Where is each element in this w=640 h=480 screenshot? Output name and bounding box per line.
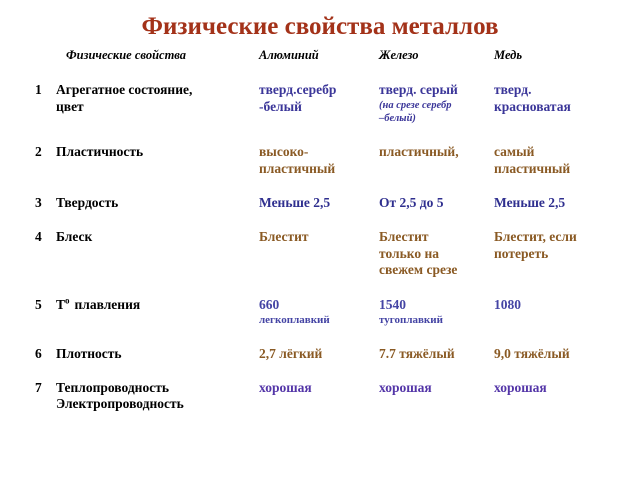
cell-iron: хорошая [379, 380, 494, 413]
cell-line2: пластичный [259, 161, 371, 177]
cell-line1: Блестит [259, 229, 371, 245]
row-property: Твердость [56, 195, 259, 229]
cell-line1: 7.7 тяжёлый [379, 346, 486, 362]
table-header-row: Физические свойства Алюминий Железо Медь [26, 48, 626, 82]
header-copper: Медь [494, 48, 626, 82]
cell-iron: пластичный, [379, 144, 494, 195]
cell-line1: Меньше 2,5 [494, 195, 618, 211]
row-property-line2: цвет [56, 99, 251, 115]
cell-line2: красноватая [494, 99, 618, 115]
cell-line1: 1540 [379, 297, 486, 313]
cell-line1: тверд.серебр [259, 82, 371, 98]
properties-table: Физические свойства Алюминий Железо Медь… [26, 48, 626, 413]
cell-line1: пластичный, [379, 144, 486, 160]
cell-line1: 1080 [494, 297, 618, 313]
cell-line1: 9,0 тяжёлый [494, 346, 618, 362]
cell-aluminium: Меньше 2,5 [259, 195, 379, 229]
page-title: Физические свойства металлов [0, 14, 640, 40]
cell-line3: свежем срезе [379, 262, 486, 278]
row-number: 7 [26, 380, 56, 413]
cell-subtext-line1: (на срезе серебр [379, 100, 486, 113]
row-property: Агрегатное состояние, цвет [56, 82, 259, 144]
cell-line1: От 2,5 до 5 [379, 195, 486, 211]
row-property-line1: Твердость [56, 195, 251, 211]
cell-line1: тверд. серый [379, 82, 486, 98]
cell-line2: потереть [494, 246, 618, 262]
row-number: 6 [26, 346, 56, 380]
row-property-line1: Пластичность [56, 144, 251, 160]
cell-aluminium: 2,7 лёгкий [259, 346, 379, 380]
table-row: 1 Агрегатное состояние, цвет тверд.сереб… [26, 82, 626, 144]
row-property: Блеск [56, 229, 259, 296]
cell-aluminium: Блестит [259, 229, 379, 296]
cell-subtext-line2: –белый) [379, 113, 486, 126]
cell-iron: 1540 тугоплавкий [379, 297, 494, 346]
cell-aluminium: 660 легкоплавкий [259, 297, 379, 346]
cell-aluminium: высоко- пластичный [259, 144, 379, 195]
row-number: 3 [26, 195, 56, 229]
row-number: 5 [26, 297, 56, 346]
cell-copper: 1080 [494, 297, 626, 346]
row-property-line2: Электропроводность [56, 396, 251, 412]
cell-iron: 7.7 тяжёлый [379, 346, 494, 380]
cell-line1: Блестит [379, 229, 486, 245]
cell-copper: хорошая [494, 380, 626, 413]
cell-line1: 2,7 лёгкий [259, 346, 371, 362]
header-number [26, 48, 56, 82]
table-row: 4 Блеск Блестит Блестит только на свежем… [26, 229, 626, 296]
row-number: 1 [26, 82, 56, 144]
table-row: 5 Топлавления 660 легкоплавкий 1540 туго… [26, 297, 626, 346]
cell-copper: Блестит, если потереть [494, 229, 626, 296]
row-property-line1: Плотность [56, 346, 251, 362]
cell-copper: 9,0 тяжёлый [494, 346, 626, 380]
row-property-line1: Блеск [56, 229, 251, 245]
row-number: 2 [26, 144, 56, 195]
cell-line1: хорошая [259, 380, 371, 396]
cell-iron: тверд. серый (на срезе серебр –белый) [379, 82, 494, 144]
cell-line1: хорошая [379, 380, 486, 396]
table-row: 3 Твердость Меньше 2,5 От 2,5 до 5 Меньш… [26, 195, 626, 229]
cell-line1: тверд. [494, 82, 618, 98]
row-property-line1: плавления [75, 297, 141, 312]
header-property: Физические свойства [56, 48, 259, 82]
cell-line2: пластичный [494, 161, 618, 177]
cell-subtext: легкоплавкий [259, 314, 371, 327]
row-property-superscript: о [65, 295, 70, 305]
row-number: 4 [26, 229, 56, 296]
header-aluminium: Алюминий [259, 48, 379, 82]
cell-line2: только на [379, 246, 486, 262]
cell-line1: Блестит, если [494, 229, 618, 245]
cell-line1: хорошая [494, 380, 618, 396]
cell-copper: тверд. красноватая [494, 82, 626, 144]
cell-aluminium: тверд.серебр -белый [259, 82, 379, 144]
cell-copper: Меньше 2,5 [494, 195, 626, 229]
cell-iron: Блестит только на свежем срезе [379, 229, 494, 296]
row-property-line1: Агрегатное состояние, [56, 82, 251, 98]
header-iron: Железо [379, 48, 494, 82]
cell-line1: Меньше 2,5 [259, 195, 371, 211]
row-property: Теплопроводность Электропроводность [56, 380, 259, 413]
table-row: 6 Плотность 2,7 лёгкий 7.7 тяжёлый 9,0 т… [26, 346, 626, 380]
row-property: Пластичность [56, 144, 259, 195]
cell-copper: самый пластичный [494, 144, 626, 195]
cell-line1: высоко- [259, 144, 371, 160]
cell-line1: самый [494, 144, 618, 160]
row-property: Топлавления [56, 297, 259, 346]
row-property: Плотность [56, 346, 259, 380]
cell-iron: От 2,5 до 5 [379, 195, 494, 229]
cell-aluminium: хорошая [259, 380, 379, 413]
slide-root: Физические свойства металлов Физические … [0, 0, 640, 480]
table-row: 7 Теплопроводность Электропроводность хо… [26, 380, 626, 413]
row-property-prefix: Т [56, 297, 65, 312]
row-property-line1: Теплопроводность [56, 380, 251, 396]
cell-line1: 660 [259, 297, 371, 313]
cell-subtext: тугоплавкий [379, 314, 486, 327]
table-row: 2 Пластичность высоко- пластичный пласти… [26, 144, 626, 195]
cell-line2: -белый [259, 99, 371, 115]
